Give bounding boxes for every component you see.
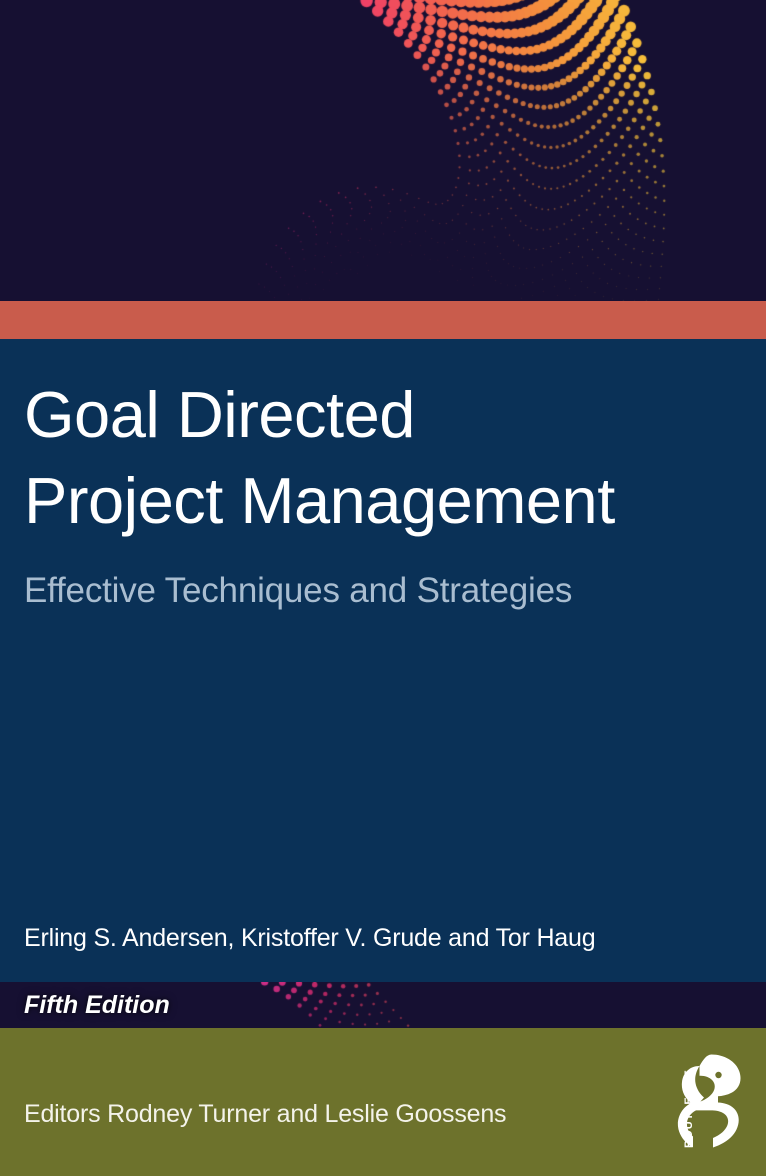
routledge-logo: ROUTLEDGE bbox=[670, 1052, 748, 1150]
page-title-line-2: Project Management bbox=[24, 458, 744, 544]
book-cover: Goal Directed Project Management Effecti… bbox=[0, 0, 766, 1176]
page-subtitle: Effective Techniques and Strategies bbox=[24, 568, 744, 614]
authors-line: Erling S. Andersen, Kristoffer V. Grude … bbox=[24, 922, 595, 954]
routledge-wordmark: ROUTLEDGE bbox=[683, 1069, 695, 1148]
title-block: Goal Directed Project Management Effecti… bbox=[24, 372, 744, 614]
routledge-logo-mark: ROUTLEDGE bbox=[670, 1052, 748, 1150]
editors-line: Editors Rodney Turner and Leslie Goossen… bbox=[24, 1098, 506, 1130]
edition-label: Fifth Edition bbox=[24, 989, 170, 1021]
halftone-top-artwork bbox=[0, 0, 766, 301]
salmon-divider-band bbox=[0, 301, 766, 339]
page-title-line-1: Goal Directed bbox=[24, 372, 744, 458]
